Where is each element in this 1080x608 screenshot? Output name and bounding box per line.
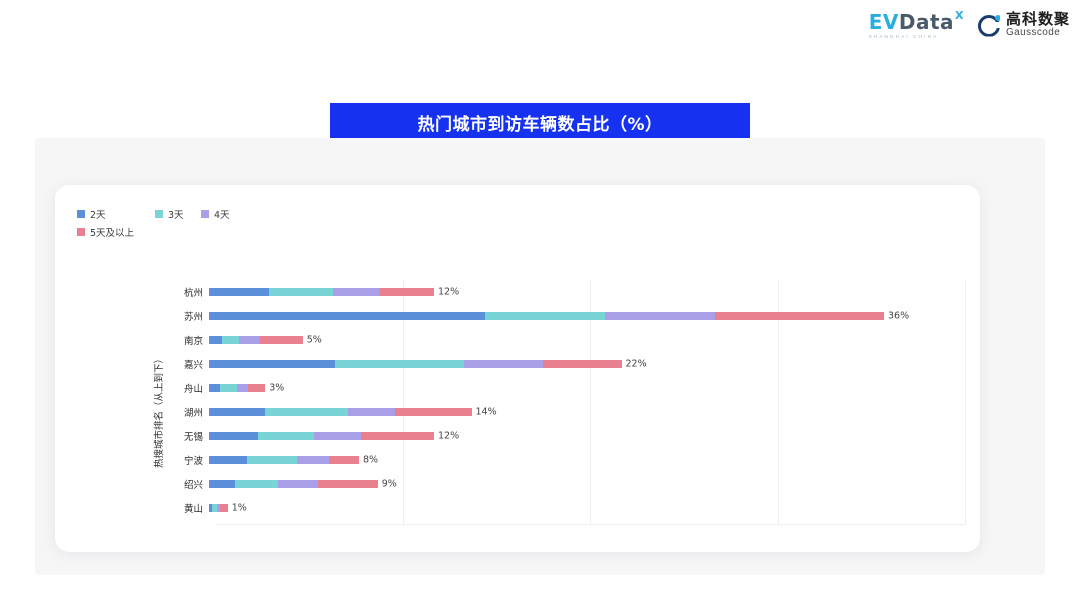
- bar-segment-4天[interactable]: [605, 312, 716, 320]
- stacked-bar[interactable]: 5%: [209, 336, 303, 344]
- legend-label-2: 4天: [214, 207, 230, 221]
- bar-value-label: 36%: [888, 311, 909, 322]
- bar-segment-5天及以上[interactable]: [318, 480, 378, 488]
- chart-legend: 2天 3天 4天 5天及以上: [77, 207, 397, 239]
- bar-segment-3天[interactable]: [265, 408, 348, 416]
- evdata-logo: EVDataX shanghai china: [869, 12, 964, 39]
- bar-segment-2天[interactable]: [209, 480, 235, 488]
- y-axis-label-嘉兴: 嘉兴: [135, 357, 209, 371]
- legend-item-1[interactable]: 3天: [155, 207, 201, 221]
- chart-bar-rows: 杭州12%苏州36%南京5%嘉兴22%舟山3%湖州14%无锡12%宁波8%绍兴9…: [135, 281, 965, 525]
- bar-segment-5天及以上[interactable]: [395, 408, 472, 416]
- chart-row: 无锡12%: [135, 425, 965, 447]
- slide-page: EVDataX shanghai china 高科数聚 Gausscode 热门…: [0, 0, 1080, 608]
- bar-segment-4天[interactable]: [348, 408, 395, 416]
- bar-value-label: 12%: [438, 287, 459, 298]
- legend-item-2[interactable]: 4天: [201, 207, 261, 221]
- bar-segment-5天及以上[interactable]: [329, 456, 359, 464]
- y-axis-label-苏州: 苏州: [135, 309, 209, 323]
- chart-row: 苏州36%: [135, 305, 965, 327]
- gridline-40: [965, 281, 966, 525]
- gausscode-logo-en: Gausscode: [1006, 28, 1070, 39]
- bar-segment-5天及以上[interactable]: [361, 432, 434, 440]
- bar-segment-2天[interactable]: [209, 336, 222, 344]
- bar-segment-5天及以上[interactable]: [543, 360, 622, 368]
- bar-segment-3天[interactable]: [247, 456, 298, 464]
- chart-row: 绍兴9%: [135, 473, 965, 495]
- stacked-bar[interactable]: 14%: [209, 408, 472, 416]
- bar-segment-3天[interactable]: [485, 312, 605, 320]
- bar-segment-3天[interactable]: [235, 480, 278, 488]
- bar-segment-3天[interactable]: [222, 336, 239, 344]
- bar-value-label: 22%: [626, 359, 647, 370]
- bar-segment-2天[interactable]: [209, 360, 335, 368]
- bar-segment-5天及以上[interactable]: [380, 288, 434, 296]
- stacked-bar[interactable]: 12%: [209, 432, 434, 440]
- gausscode-logo: 高科数聚 Gausscode: [978, 12, 1070, 38]
- chart-plot-area: 热搜城市排名（从上到下） 杭州12%苏州36%南京5%嘉兴22%舟山3%湖州14…: [135, 281, 965, 525]
- legend-swatch-2: [201, 210, 209, 218]
- chart-row: 舟山3%: [135, 377, 965, 399]
- legend-label-1: 3天: [168, 207, 184, 221]
- stacked-bar[interactable]: 12%: [209, 288, 434, 296]
- evdata-logo-wordmark: EVDataX: [869, 12, 964, 32]
- bar-segment-4天[interactable]: [237, 384, 248, 392]
- y-axis-label-南京: 南京: [135, 333, 209, 347]
- chart-row: 湖州14%: [135, 401, 965, 423]
- bar-segment-2天[interactable]: [209, 456, 247, 464]
- bar-segment-4天[interactable]: [297, 456, 329, 464]
- legend-item-0[interactable]: 2天: [77, 207, 155, 221]
- stacked-bar[interactable]: 3%: [209, 384, 265, 392]
- bar-segment-4天[interactable]: [314, 432, 361, 440]
- bar-segment-2天[interactable]: [209, 432, 258, 440]
- stacked-bar[interactable]: 9%: [209, 480, 378, 488]
- gausscode-g-mark-icon: [978, 15, 1000, 37]
- bar-segment-4天[interactable]: [464, 360, 543, 368]
- chart-row: 杭州12%: [135, 281, 965, 303]
- header-logos: EVDataX shanghai china 高科数聚 Gausscode: [869, 12, 1070, 39]
- bar-segment-2天[interactable]: [209, 288, 269, 296]
- y-axis-label-湖州: 湖州: [135, 405, 209, 419]
- page-title: 热门城市到访车辆数占比（%）: [330, 103, 750, 141]
- y-axis-label-舟山: 舟山: [135, 381, 209, 395]
- y-axis-label-黄山: 黄山: [135, 501, 209, 515]
- y-axis-label-宁波: 宁波: [135, 453, 209, 467]
- bar-segment-5天及以上[interactable]: [715, 312, 884, 320]
- evdata-logo-ev: EV: [869, 12, 899, 32]
- bar-value-label: 3%: [269, 383, 284, 394]
- bar-value-label: 14%: [476, 407, 497, 418]
- y-axis-label-杭州: 杭州: [135, 285, 209, 299]
- chart-row: 黄山1%: [135, 497, 965, 519]
- evdata-logo-subtitle: shanghai china: [869, 34, 939, 39]
- chart-card: 2天 3天 4天 5天及以上 热搜城市排名（从上到下） 杭州12%苏州36%南京…: [55, 185, 980, 552]
- bar-segment-3天[interactable]: [258, 432, 314, 440]
- stacked-bar[interactable]: 1%: [209, 504, 228, 512]
- gausscode-logo-text: 高科数聚 Gausscode: [1006, 12, 1070, 38]
- chart-row: 嘉兴22%: [135, 353, 965, 375]
- y-axis-label-无锡: 无锡: [135, 429, 209, 443]
- stacked-bar[interactable]: 8%: [209, 456, 359, 464]
- stacked-bar[interactable]: 22%: [209, 360, 622, 368]
- legend-swatch-0: [77, 210, 85, 218]
- bar-segment-4天[interactable]: [333, 288, 380, 296]
- bar-value-label: 12%: [438, 431, 459, 442]
- bar-segment-5天及以上[interactable]: [248, 384, 265, 392]
- stacked-bar[interactable]: 36%: [209, 312, 884, 320]
- y-axis-label-绍兴: 绍兴: [135, 477, 209, 491]
- bar-segment-3天[interactable]: [269, 288, 333, 296]
- bar-value-label: 1%: [232, 503, 247, 514]
- legend-label-3: 5天及以上: [90, 225, 134, 239]
- evdata-logo-data: Data: [899, 12, 954, 32]
- bar-segment-5天及以上[interactable]: [260, 336, 303, 344]
- bar-segment-4天[interactable]: [239, 336, 260, 344]
- chart-row: 宁波8%: [135, 449, 965, 471]
- gausscode-logo-cn: 高科数聚: [1006, 12, 1070, 28]
- bar-segment-5天及以上[interactable]: [220, 504, 228, 512]
- legend-swatch-3: [77, 228, 85, 236]
- evdata-logo-superscript: X: [955, 10, 964, 21]
- legend-swatch-1: [155, 210, 163, 218]
- chart-row: 南京5%: [135, 329, 965, 351]
- bar-value-label: 9%: [382, 479, 397, 490]
- bar-segment-2天[interactable]: [209, 384, 220, 392]
- bar-segment-2天[interactable]: [209, 312, 485, 320]
- bar-segment-4天[interactable]: [278, 480, 317, 488]
- bar-segment-3天[interactable]: [335, 360, 464, 368]
- legend-item-3[interactable]: 5天及以上: [77, 225, 277, 239]
- bar-value-label: 8%: [363, 455, 378, 466]
- legend-label-0: 2天: [90, 207, 106, 221]
- bar-value-label: 5%: [307, 335, 322, 346]
- bar-segment-3天[interactable]: [220, 384, 237, 392]
- bar-segment-2天[interactable]: [209, 408, 265, 416]
